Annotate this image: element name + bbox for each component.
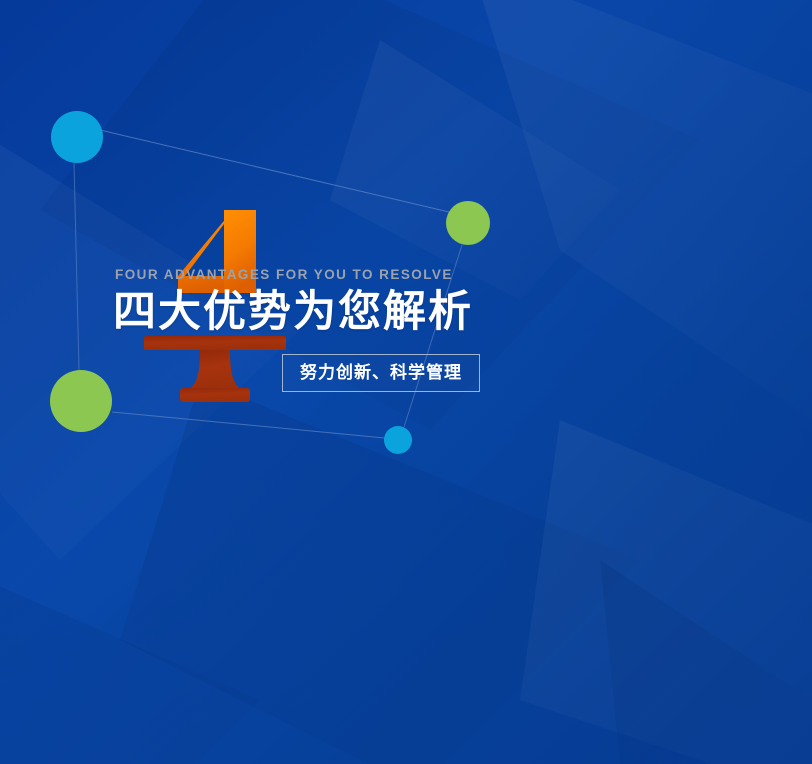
- node-cyan-bottom: [384, 426, 412, 454]
- node-green-bottom-left: [50, 370, 112, 432]
- promo-banner: FOUR ADVANTAGES FOR YOU TO RESOLVE 四大优势为…: [0, 0, 812, 764]
- headline-block: FOUR ADVANTAGES FOR YOU TO RESOLVE 四大优势为…: [113, 268, 673, 392]
- edge-green-bottom-left-to-cyan-bottom: [112, 412, 385, 438]
- node-green-right: [446, 201, 490, 245]
- page-title: 四大优势为您解析: [113, 289, 673, 335]
- edge-cyan-top-to-green-bottom-left: [74, 163, 79, 370]
- tagline-badge: 努力创新、科学管理: [282, 354, 480, 392]
- eyebrow-text: FOUR ADVANTAGES FOR YOU TO RESOLVE: [115, 268, 673, 282]
- tagline-container: 努力创新、科学管理: [282, 354, 673, 392]
- node-cyan-top-left: [51, 111, 103, 163]
